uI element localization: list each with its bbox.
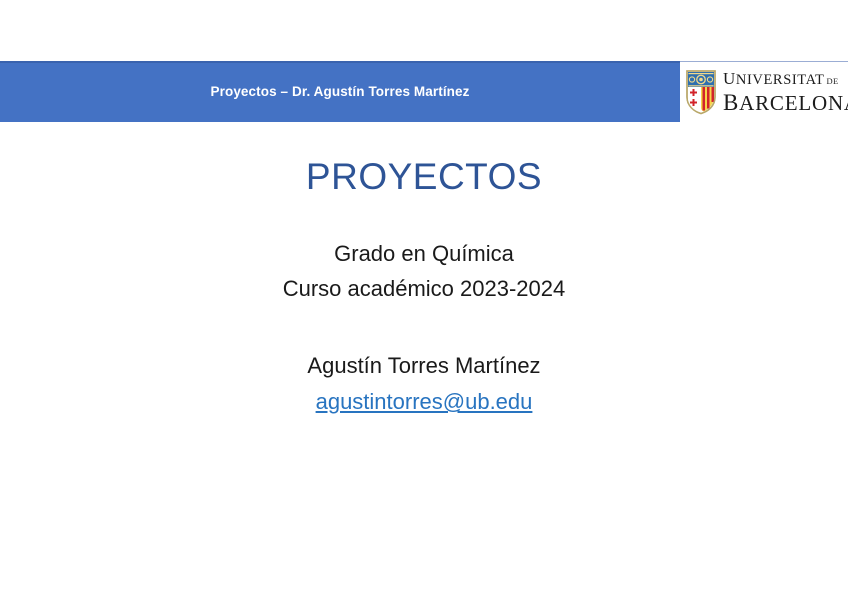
logo-line-barcelona: BARCELONA bbox=[723, 91, 848, 114]
logo-de: DE bbox=[827, 77, 839, 86]
degree-line: Grado en Química bbox=[0, 236, 848, 271]
academic-year-line: Curso académico 2023-2024 bbox=[0, 271, 848, 306]
author-name: Agustín Torres Martínez bbox=[0, 348, 848, 384]
header-title: Proyectos – Dr. Agustín Torres Martínez bbox=[0, 61, 680, 122]
page-title: PROYECTOS bbox=[0, 157, 848, 198]
university-logo-wordmark: UNIVERSITATDE BARCELONA bbox=[723, 70, 848, 114]
course-info-block: Grado en Química Curso académico 2023-20… bbox=[0, 236, 848, 306]
universitat-de-barcelona-crest-icon bbox=[685, 69, 717, 115]
slide-body: PROYECTOS Grado en Química Curso académi… bbox=[0, 122, 848, 421]
logo-barcelona-rest: ARCELONA bbox=[739, 91, 848, 115]
slide-header: Proyectos – Dr. Agustín Torres Martínez bbox=[0, 61, 848, 122]
slide-canvas: Proyectos – Dr. Agustín Torres Martínez bbox=[0, 0, 848, 599]
author-block: Agustín Torres Martínez agustintorres@ub… bbox=[0, 348, 848, 421]
logo-barcelona-initial: B bbox=[723, 90, 739, 115]
logo-line-universitat: UNIVERSITATDE bbox=[723, 70, 848, 88]
logo-universitat-rest: NIVERSITAT bbox=[736, 73, 825, 88]
university-logo: UNIVERSITATDE BARCELONA bbox=[680, 61, 848, 122]
logo-universitat-initial: U bbox=[723, 70, 736, 87]
author-email-link[interactable]: agustintorres@ub.edu bbox=[316, 389, 533, 414]
